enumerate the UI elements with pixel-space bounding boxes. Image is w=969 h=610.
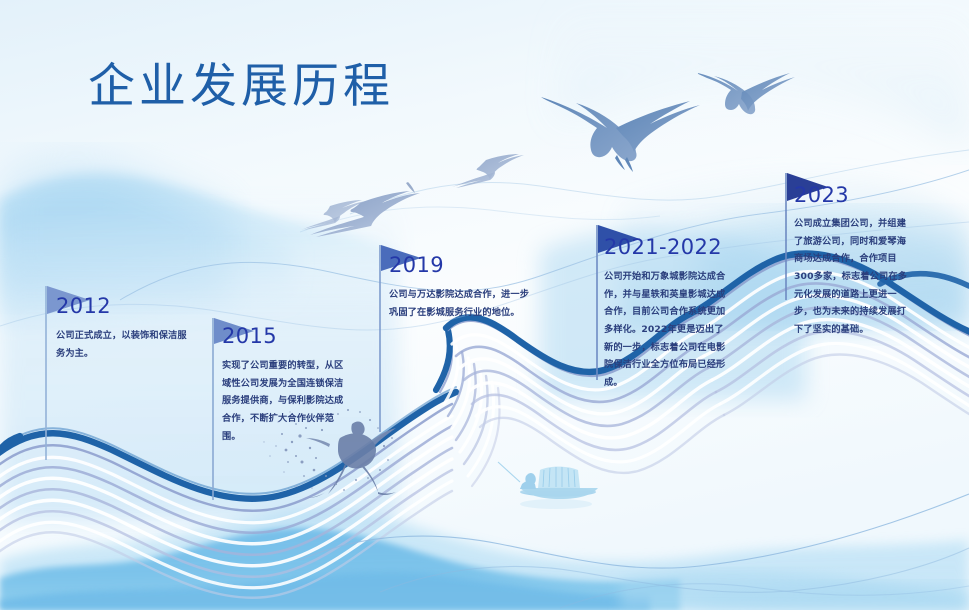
- milestone-description: 公司成立集团公司，并组建了旅游公司，同时和爱琴海商场达成合作，合作项目300多家…: [794, 215, 911, 339]
- milestone-2012: 2012 公司正式成立，以装饰和保洁服务为主。: [56, 294, 188, 362]
- milestone-description: 公司正式成立，以装饰和保洁服务为主。: [56, 327, 188, 362]
- bird-icon-large: [541, 97, 700, 172]
- milestone-2019: 2019 公司与万达影院达成合作，进一步巩固了在影城服务行业的地位。: [389, 253, 536, 322]
- thin-curve-lines-lower: [300, 494, 969, 608]
- page-title: 企业发展历程: [88, 61, 394, 114]
- milestone-2021-2022: 2021-2022 公司开始和万象城影院达成合作，并与星轶和英皇影城达成合作，目…: [604, 235, 732, 392]
- milestone-year: 2023: [794, 183, 911, 207]
- fisherman-boat-silhouette: [498, 462, 598, 509]
- milestone-description: 公司与万达影院达成合作，进一步巩固了在影城服务行业的地位。: [389, 286, 536, 322]
- milestone-year: 2021-2022: [604, 235, 732, 259]
- milestone-2023: 2023 公司成立集团公司，并组建了旅游公司，同时和爱琴海商场达成合作，合作项目…: [794, 183, 911, 339]
- bird-icon-mid-left: [310, 182, 420, 237]
- milestone-year: 2015: [222, 324, 350, 348]
- bird-icon-upper-right: [698, 73, 795, 114]
- milestone-year: 2019: [389, 253, 536, 277]
- timeline-poster: 企业发展历程 2012 公司正式成立，以装饰和保洁服务为主。 2015 实现了公…: [0, 0, 969, 610]
- milestone-2015: 2015 实现了公司重要的转型，从区域性公司发展为全国连锁保洁服务提供商，与保利…: [222, 324, 350, 445]
- milestone-description: 实现了公司重要的转型，从区域性公司发展为全国连锁保洁服务提供商，与保利影院达成合…: [222, 357, 350, 445]
- milestone-year: 2012: [56, 294, 188, 318]
- milestone-description: 公司开始和万象城影院达成合作，并与星轶和英皇影城达成合作，目前公司合作系统更加多…: [604, 268, 732, 392]
